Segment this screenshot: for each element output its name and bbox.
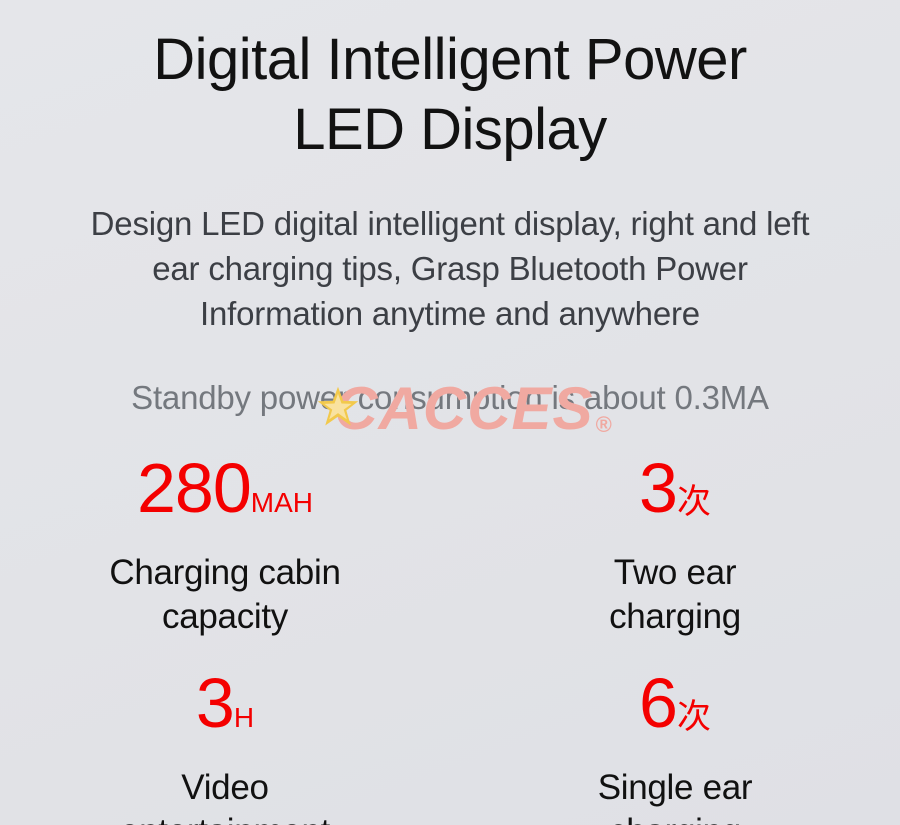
page-title: Digital Intelligent Power LED Display <box>0 25 900 165</box>
stat-value: 280MAH <box>0 451 450 545</box>
stat-value: 3次 <box>450 451 900 545</box>
stat-unit: 次 <box>677 483 711 521</box>
stat-label: Charging cabin capacity <box>0 551 450 639</box>
stat-label: Two ear charging <box>450 551 900 639</box>
feature-description: Design LED digital intelligent display, … <box>0 201 900 336</box>
stat-value: 3H <box>0 666 450 760</box>
stat-label: Video entertainment <box>0 766 450 825</box>
stat-value: 6次 <box>450 666 900 760</box>
stat-item-charging-cabin-capacity: 280MAH Charging cabin capacity <box>0 445 450 660</box>
specs-grid: 280MAH Charging cabin capacity 3次 Two ea… <box>0 445 900 825</box>
stat-number: 280 <box>137 449 251 527</box>
stat-item-two-ear-charging: 3次 Two ear charging <box>450 445 900 660</box>
stat-number: 6 <box>639 664 677 742</box>
stat-unit: 次 <box>677 698 711 736</box>
stat-label: Single ear charging <box>450 766 900 825</box>
stat-number: 3 <box>639 449 677 527</box>
standby-power-note: Standby power consumption is about 0.3MA <box>0 376 900 420</box>
product-feature-panel: Digital Intelligent Power LED Display De… <box>0 0 900 825</box>
stat-unit: MAH <box>251 487 313 518</box>
stat-unit: H <box>234 702 254 733</box>
stat-item-video-entertainment: 3H Video entertainment <box>0 660 450 825</box>
stat-item-single-ear-charging: 6次 Single ear charging <box>450 660 900 825</box>
stat-number: 3 <box>196 664 234 742</box>
